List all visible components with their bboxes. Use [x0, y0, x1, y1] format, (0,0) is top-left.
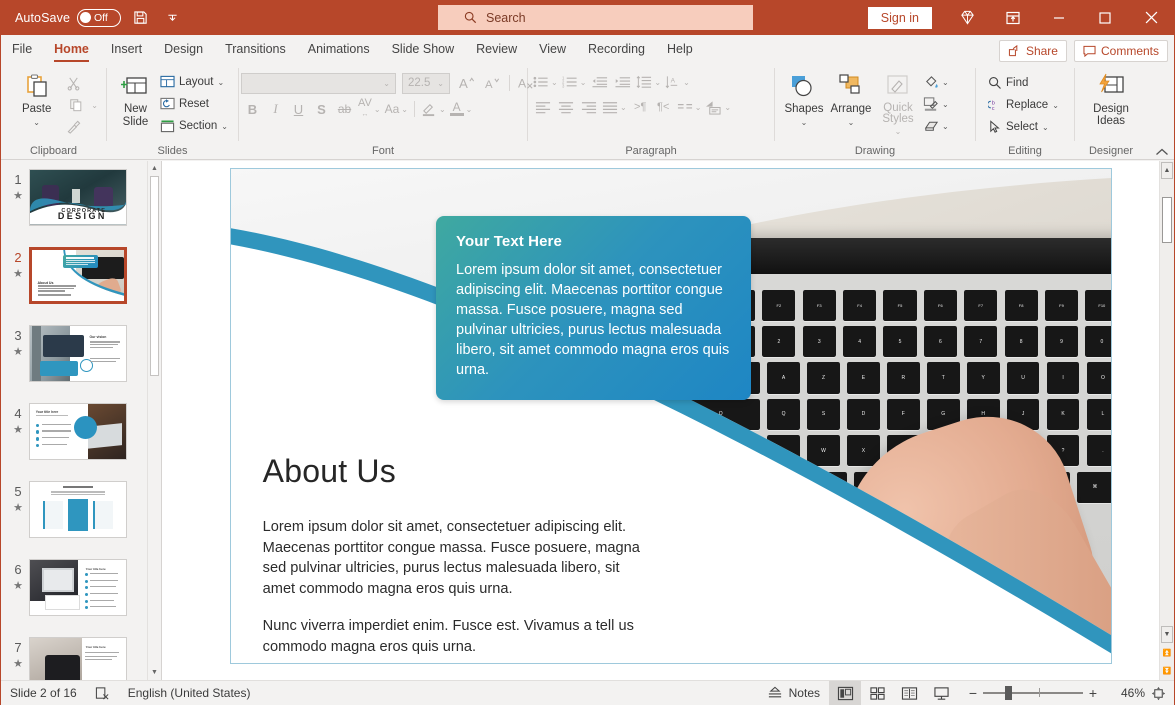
autosave-label: AutoSave — [15, 11, 70, 25]
line-spacing-button[interactable]: ⌄ — [634, 71, 663, 93]
decrease-indent-button[interactable] — [588, 71, 611, 93]
scroll-down-icon[interactable]: ▼ — [1161, 626, 1173, 643]
align-text-button[interactable]: ⌄ — [703, 96, 733, 118]
save-icon[interactable] — [127, 5, 153, 31]
textbox-body: Lorem ipsum dolor sit amet, consectetuer… — [456, 260, 731, 380]
thumbnail-scrollbar[interactable]: ▲ ▼ — [147, 161, 161, 680]
thumbnail-image[interactable]: Our vision — [29, 325, 127, 382]
star-icon: ★ — [7, 345, 29, 360]
text-highlight-dropdown-icon[interactable]: ⌄ — [439, 105, 446, 114]
line-spacing-icon — [636, 75, 652, 89]
paste-button[interactable]: Paste ⌄ — [11, 69, 62, 129]
search-icon — [464, 11, 477, 24]
thumbnail-image[interactable]: Your title here — [29, 637, 127, 680]
slide-vertical-scrollbar[interactable]: ▲ ▼ ⏫ ⏬ — [1159, 161, 1174, 680]
sign-in-button[interactable]: Sign in — [868, 7, 932, 29]
tab-view[interactable]: View — [528, 35, 577, 64]
layout-button[interactable]: Layout ⌄ — [156, 71, 232, 93]
notes-label: Notes — [789, 686, 820, 700]
slide-thumbnail-pane: 1 ★ CORPORATE DESIGN 2 — [1, 161, 162, 680]
zoom-in-button[interactable]: + — [1083, 685, 1103, 701]
arrange-icon — [836, 71, 866, 103]
ribbon-group-label-clipboard: Clipboard — [1, 144, 106, 159]
find-button[interactable]: Find — [984, 72, 1063, 94]
text-direction-dropdown-icon[interactable]: ⌄ — [683, 78, 690, 87]
font-name-dropdown-icon[interactable]: ⌄ — [383, 79, 390, 88]
slide-paragraph-1: Lorem ipsum dolor sit amet, consectetuer… — [263, 517, 641, 599]
tab-design[interactable]: Design — [153, 35, 214, 64]
quick-styles-icon — [884, 71, 912, 103]
star-icon: ★ — [7, 267, 29, 282]
align-center-button[interactable] — [554, 96, 577, 118]
underline-button[interactable]: U — [287, 98, 310, 120]
shapes-button[interactable]: Shapes ⌄ — [781, 69, 827, 129]
arrange-dropdown-icon[interactable]: ⌄ — [848, 116, 855, 129]
svg-text:A: A — [459, 76, 468, 91]
autosave-control[interactable]: AutoSave Off — [15, 9, 121, 27]
thumbnail-slide-4[interactable]: 4 ★ Your title here — [1, 403, 147, 481]
justify-dropdown-icon[interactable]: ⌄ — [620, 103, 627, 112]
thumbnail-number: 7 ★ — [7, 637, 29, 672]
align-text-dropdown-icon[interactable]: ⌄ — [724, 103, 731, 112]
font-size-combobox[interactable]: 22.5 ⌄ — [402, 73, 450, 94]
ribbon-group-clipboard: Paste ⌄ ⌄ — [1, 64, 106, 159]
shape-effects-icon — [923, 119, 939, 133]
shapes-icon — [789, 71, 819, 103]
font-size-dropdown-icon[interactable]: ⌄ — [437, 79, 444, 88]
replace-dropdown-icon[interactable]: ⌄ — [1052, 101, 1059, 110]
zoom-slider-handle[interactable] — [1005, 686, 1012, 700]
status-bar-right: Notes − + 46% — [758, 681, 1174, 705]
thumbnail-slide-3[interactable]: 3 ★ Our vision — [1, 325, 147, 403]
fill-bucket-icon — [923, 74, 939, 90]
slide-show-button[interactable] — [925, 681, 957, 705]
bullets-dropdown-icon[interactable]: ⌄ — [551, 78, 558, 87]
comment-icon — [1083, 45, 1096, 57]
ribbon-group-label-paragraph: Paragraph — [528, 144, 774, 159]
shapes-label: Shapes — [784, 103, 823, 116]
thumbnail-image[interactable] — [29, 481, 127, 538]
fit-to-window-button[interactable] — [1149, 681, 1174, 705]
vertical-text-icon: A — [665, 75, 681, 90]
ribbon-group-label-editing: Editing — [976, 144, 1074, 159]
share-label: Share — [1026, 44, 1058, 58]
replace-icon: bc — [988, 98, 1002, 112]
reading-view-button[interactable] — [893, 681, 925, 705]
paste-dropdown-icon[interactable]: ⌄ — [33, 116, 40, 129]
text-direction-menu[interactable]: A ⌄ — [663, 71, 692, 93]
numbering-button[interactable]: 123 ⌄ — [560, 71, 589, 93]
shapes-dropdown-icon[interactable]: ⌄ — [801, 116, 808, 129]
line-spacing-dropdown-icon[interactable]: ⌄ — [654, 78, 661, 87]
new-slide-label: New Slide — [115, 103, 156, 129]
quick-styles-dropdown-icon[interactable]: ⌄ — [895, 125, 902, 138]
zoom-out-button[interactable]: − — [963, 685, 983, 701]
search-icon — [988, 76, 1002, 90]
star-icon: ★ — [7, 657, 29, 672]
arrange-label: Arrange — [831, 103, 872, 116]
tab-recording[interactable]: Recording — [577, 35, 656, 64]
thumbnail-number: 6 ★ — [7, 559, 29, 594]
tab-transitions[interactable]: Transitions — [214, 35, 297, 64]
tab-home[interactable]: Home — [43, 35, 100, 64]
comments-label: Comments — [1101, 44, 1159, 58]
layout-dropdown-icon[interactable]: ⌄ — [217, 78, 224, 87]
design-ideas-label: Design Ideas — [1081, 103, 1141, 127]
design-ideas-icon — [1095, 71, 1127, 103]
font-size-value: 22.5 — [408, 77, 430, 89]
align-left-button[interactable] — [531, 96, 554, 118]
svg-text:A: A — [671, 77, 676, 84]
justify-button[interactable]: ⌄ — [600, 96, 629, 118]
ribbon-group-slides: New Slide Layout ⌄ Reset — [107, 64, 238, 159]
maximize-icon[interactable] — [1082, 0, 1128, 35]
diamond-icon[interactable] — [944, 0, 990, 35]
reset-label: Reset — [179, 98, 209, 110]
notes-icon — [767, 686, 783, 700]
star-icon: ★ — [7, 579, 29, 594]
section-dropdown-icon[interactable]: ⌄ — [221, 122, 228, 131]
ribbon: Paste ⌄ ⌄ — [1, 64, 1174, 160]
next-slide-icon[interactable]: ⏬ — [1161, 662, 1173, 679]
slide-paragraph-2: Nunc viverra imperdiet enim. Fusce est. … — [263, 616, 641, 657]
vertical-scrollbar-thumb[interactable] — [1162, 197, 1172, 243]
quick-styles-label: Quick Styles — [875, 103, 921, 125]
align-justify-icon — [602, 101, 618, 114]
workspace: 1 ★ CORPORATE DESIGN 2 — [1, 161, 1174, 680]
shape-effects-dropdown-icon[interactable]: ⌄ — [942, 122, 949, 131]
align-right-button[interactable] — [577, 96, 600, 118]
character-spacing-button[interactable]: AV↔ ⌄ — [356, 98, 383, 120]
thumbnail-number: 1 ★ — [7, 169, 29, 204]
normal-view-button[interactable] — [829, 681, 861, 705]
layout-icon — [160, 75, 175, 89]
arrange-button[interactable]: Arrange ⌄ — [827, 69, 875, 129]
columns-dropdown-icon[interactable]: ⌄ — [695, 103, 702, 112]
thumbnail-scroll-up-icon[interactable]: ▲ — [148, 161, 161, 176]
thumbnail-slide-1[interactable]: 1 ★ CORPORATE DESIGN — [1, 169, 147, 247]
clipboard-icon — [23, 71, 51, 103]
shape-outline-button[interactable]: ⌄ — [921, 93, 951, 115]
autosave-toggle[interactable]: Off — [77, 9, 121, 27]
character-spacing-dropdown-icon[interactable]: ⌄ — [374, 105, 381, 114]
slide-thumbnail-list[interactable]: 1 ★ CORPORATE DESIGN 2 — [1, 161, 147, 680]
ribbon-group-label-slides: Slides — [107, 144, 238, 159]
thumbnail-slide-6[interactable]: 6 ★ Your title here — [1, 559, 147, 637]
find-label: Find — [1006, 77, 1028, 89]
thumbnail-slide-7[interactable]: 7 ★ Your title here — [1, 637, 147, 680]
tab-help[interactable]: Help — [656, 35, 704, 64]
cut-button[interactable] — [62, 72, 85, 94]
paste-label: Paste — [22, 103, 51, 116]
reset-icon — [160, 97, 175, 111]
ribbon-group-font: ⌄ 22.5 ⌄ A A A — [239, 64, 527, 159]
current-slide[interactable]: escF1F2F3F4F5F6F7F8F9F10F11F12 @12345678… — [230, 168, 1112, 664]
thumbnail-slide-5[interactable]: 5 ★ — [1, 481, 147, 559]
text-direction-button[interactable]: >¶ — [629, 96, 652, 118]
select-button[interactable]: Select ⌄ — [984, 116, 1063, 138]
increase-font-size-button[interactable]: A — [456, 72, 479, 94]
copy-icon — [64, 94, 87, 116]
close-icon[interactable] — [1128, 0, 1174, 35]
thumbnail-number: 5 ★ — [7, 481, 29, 516]
cursor-arrow-icon — [988, 120, 1002, 134]
tab-review[interactable]: Review — [465, 35, 528, 64]
slide-editing-area[interactable]: escF1F2F3F4F5F6F7F8F9F10F11F12 @12345678… — [162, 161, 1174, 680]
thumbnail-image[interactable]: Your title here — [29, 559, 127, 616]
copy-button[interactable]: ⌄ — [62, 94, 100, 116]
new-slide-button[interactable]: New Slide — [115, 69, 156, 129]
thumbnail-number: 4 ★ — [7, 403, 29, 438]
section-label: Section — [179, 120, 217, 132]
columns-icon — [677, 101, 693, 113]
rtl-button[interactable]: ¶< — [652, 96, 675, 118]
shape-outline-dropdown-icon[interactable]: ⌄ — [942, 100, 949, 109]
minimize-icon[interactable] — [1036, 0, 1082, 35]
autosave-toggle-knob — [80, 12, 91, 23]
svg-text:A: A — [485, 79, 493, 91]
thumbnail-image[interactable]: Your title here — [29, 403, 127, 460]
change-case-icon: Aa — [385, 102, 400, 116]
window-controls: Sign in — [868, 0, 1174, 35]
shape-fill-button[interactable]: ⌄ — [921, 71, 951, 93]
zoom-level-label[interactable]: 46% — [1109, 686, 1149, 700]
svg-text:A: A — [518, 76, 527, 90]
increase-indent-button[interactable] — [611, 71, 634, 93]
share-button[interactable]: Share — [999, 40, 1067, 62]
select-label: Select — [1006, 121, 1038, 133]
align-text-icon — [705, 100, 722, 115]
autosave-state-label: Off — [94, 12, 108, 24]
thumbnail-scrollbar-thumb[interactable] — [150, 176, 159, 376]
slide-textbox[interactable]: Your Text Here Lorem ipsum dolor sit ame… — [436, 216, 751, 400]
star-icon: ★ — [7, 501, 29, 516]
star-icon: ★ — [7, 423, 29, 438]
status-bar: Slide 2 of 16 English (United States) No… — [1, 680, 1174, 705]
change-case-dropdown-icon[interactable]: ⌄ — [401, 105, 408, 114]
notes-button[interactable]: Notes — [758, 681, 829, 705]
decrease-font-size-button[interactable]: A — [481, 72, 504, 94]
svg-text:3: 3 — [562, 84, 565, 89]
bold-button[interactable]: B — [241, 98, 264, 120]
star-icon: ★ — [7, 189, 29, 204]
italic-button[interactable]: I — [264, 98, 287, 120]
accessibility-check-icon[interactable] — [86, 681, 119, 705]
columns-button[interactable]: ⌄ — [675, 96, 704, 118]
ribbon-tabs: File Home Insert Design Transitions Anim… — [1, 35, 1174, 64]
slide-counter[interactable]: Slide 2 of 16 — [1, 681, 86, 705]
format-painter-button[interactable] — [62, 116, 85, 138]
numbering-dropdown-icon[interactable]: ⌄ — [580, 78, 587, 87]
svg-text:c: c — [992, 106, 995, 112]
ribbon-group-editing: Find bc Replace ⌄ Select ⌄ Editing — [976, 64, 1074, 159]
share-icon — [1008, 45, 1021, 57]
slide-title[interactable]: About Us — [263, 453, 396, 490]
ribbon-group-paragraph: ⌄ 123 ⌄ ⌄ A ⌄ — [528, 64, 774, 159]
font-name-combobox[interactable]: ⌄ — [241, 73, 396, 94]
tab-animations[interactable]: Animations — [297, 35, 381, 64]
ribbon-group-label-font: Font — [239, 144, 527, 159]
design-ideas-button[interactable]: Design Ideas — [1081, 69, 1141, 127]
select-dropdown-icon[interactable]: ⌄ — [1042, 123, 1049, 132]
font-color-dropdown-icon[interactable]: ⌄ — [466, 105, 473, 114]
ribbon-group-label-drawing: Drawing — [775, 144, 975, 159]
reset-button[interactable]: Reset — [156, 93, 232, 115]
thumbnail-scroll-down-icon[interactable]: ▼ — [148, 665, 161, 680]
customize-quick-access-toolbar-icon[interactable] — [159, 5, 185, 31]
ribbon-display-options-icon[interactable] — [990, 0, 1036, 35]
language-indicator[interactable]: English (United States) — [119, 681, 260, 705]
strikethrough-button[interactable]: ab — [333, 98, 356, 120]
shape-fill-dropdown-icon[interactable]: ⌄ — [942, 78, 949, 87]
replace-button[interactable]: bc Replace ⌄ — [984, 94, 1063, 116]
thumbnail-number: 3 ★ — [7, 325, 29, 360]
ribbon-group-designer: Design Ideas Designer — [1075, 64, 1147, 159]
search-input[interactable]: Search — [438, 5, 753, 30]
slide-sorter-button[interactable] — [861, 681, 893, 705]
thumbnail-slide-2[interactable]: 2 ★ About Us — [1, 247, 147, 325]
textbox-heading: Your Text Here — [456, 233, 731, 250]
font-color-icon: A — [450, 102, 464, 116]
comments-button[interactable]: Comments — [1074, 40, 1168, 62]
copy-dropdown-icon[interactable]: ⌄ — [91, 101, 98, 110]
title-bar: AutoSave Off corporate_desi... Se — [1, 0, 1174, 35]
ribbon-group-drawing: Shapes ⌄ Arrange ⌄ Quick Styles ⌄ — [775, 64, 975, 159]
search-placeholder: Search — [486, 11, 526, 25]
slide-body-text[interactable]: Lorem ipsum dolor sit amet, consectetuer… — [263, 517, 641, 657]
numbered-list-icon: 123 — [562, 75, 578, 89]
new-slide-icon — [121, 71, 149, 103]
zoom-track[interactable] — [983, 692, 1083, 694]
tab-slide-show[interactable]: Slide Show — [381, 35, 466, 64]
shape-effects-button[interactable]: ⌄ — [921, 115, 951, 137]
tab-insert[interactable]: Insert — [100, 35, 153, 64]
thumbnail-image[interactable]: About Us — [29, 247, 127, 304]
zoom-default-tick — [1039, 688, 1040, 697]
change-case-button[interactable]: Aa ⌄ — [383, 98, 410, 120]
powerpoint-window: AutoSave Off corporate_desi... Se — [0, 0, 1175, 705]
previous-slide-icon[interactable]: ⏫ — [1161, 644, 1173, 661]
highlighter-icon — [421, 101, 437, 117]
character-spacing-icon: AV↔ — [358, 98, 372, 120]
replace-label: Replace — [1006, 99, 1048, 111]
zoom-slider[interactable]: − + — [963, 685, 1103, 701]
font-color-button[interactable]: A ⌄ — [448, 98, 475, 120]
collapse-ribbon-icon[interactable] — [1155, 148, 1169, 157]
layout-label: Layout — [179, 76, 214, 88]
quick-styles-button[interactable]: Quick Styles ⌄ — [875, 69, 921, 138]
thumbnail-number: 2 ★ — [7, 247, 29, 282]
scroll-up-icon[interactable]: ▲ — [1161, 162, 1173, 179]
pen-outline-icon — [923, 96, 939, 112]
section-button[interactable]: Section ⌄ — [156, 115, 232, 137]
ribbon-group-label-designer: Designer — [1075, 144, 1147, 159]
text-shadow-button[interactable]: S — [310, 98, 333, 120]
thumbnail-image[interactable]: CORPORATE DESIGN — [29, 169, 127, 226]
section-icon — [160, 119, 175, 133]
tab-file[interactable]: File — [1, 35, 43, 64]
text-highlight-button[interactable]: ⌄ — [419, 98, 448, 120]
